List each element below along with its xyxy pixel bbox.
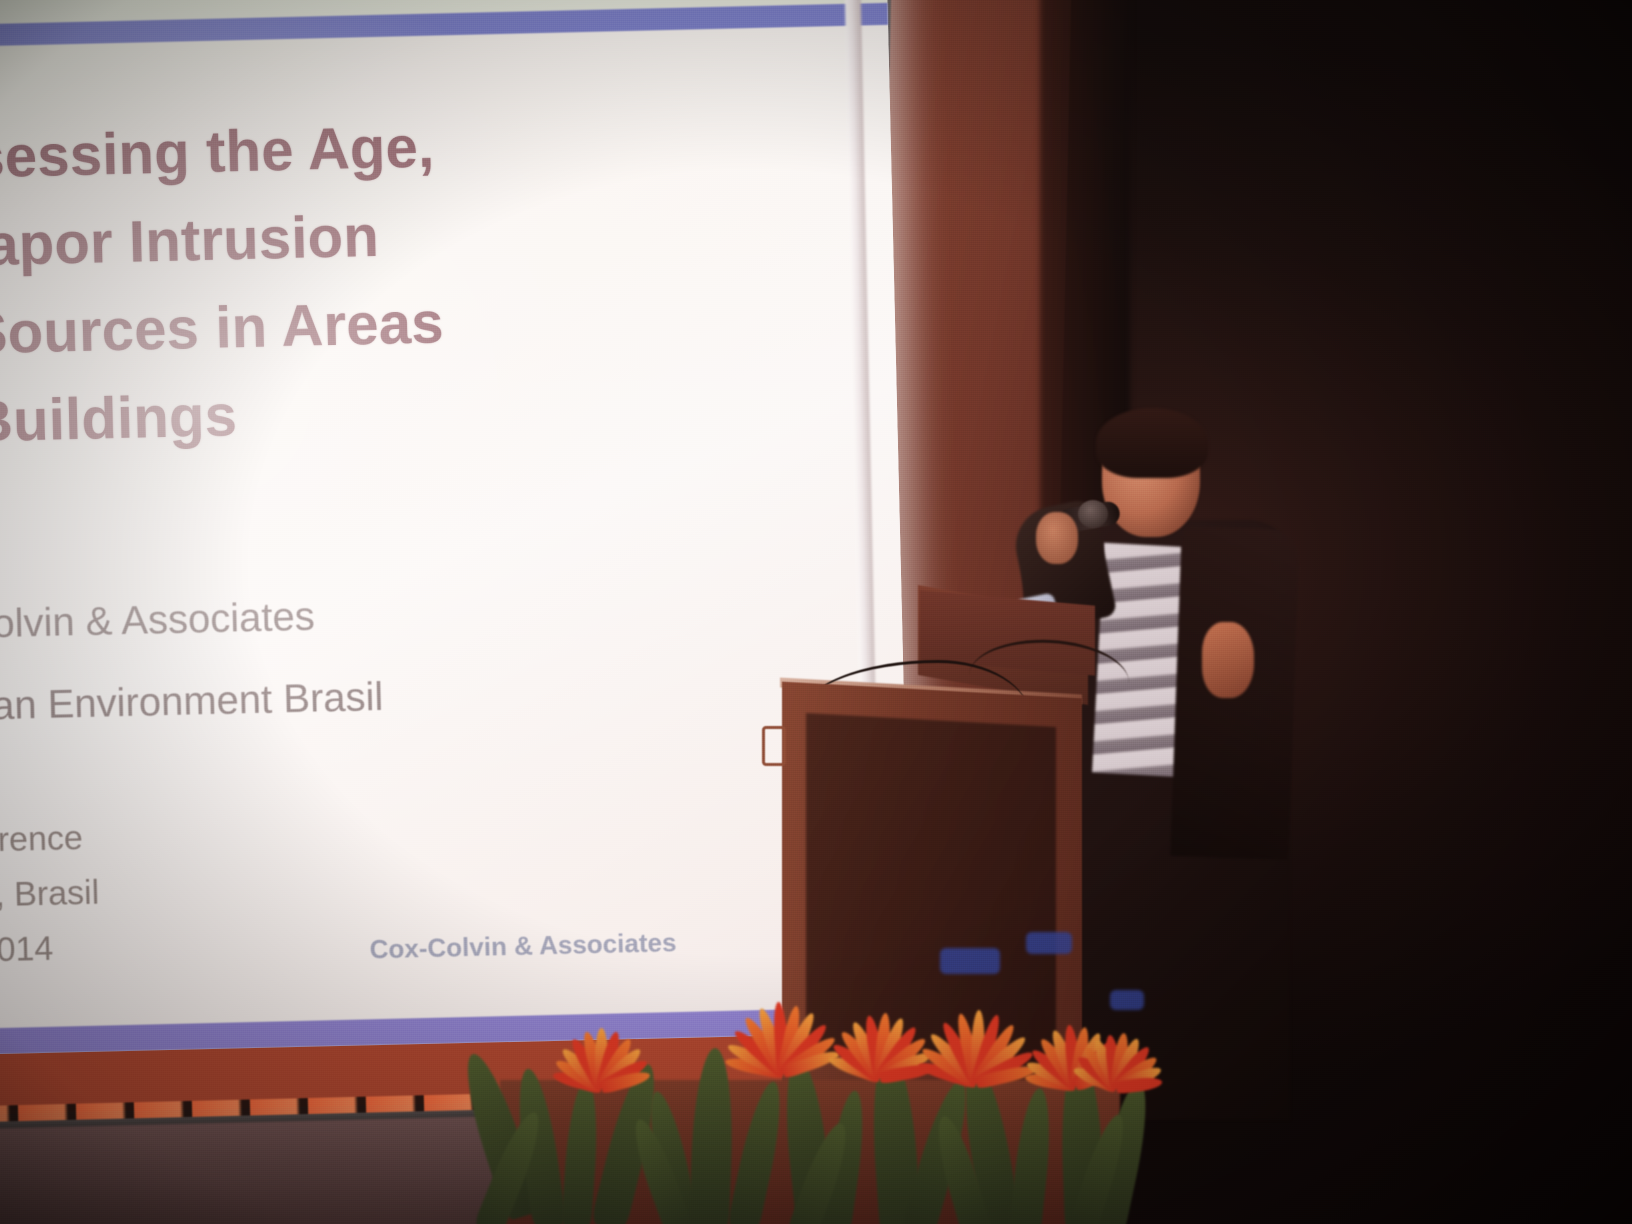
bromeliad-bloom [924, 964, 1033, 1085]
speaker-right-hand [1202, 622, 1254, 698]
bromeliad-bloom [558, 992, 644, 1088]
flower-leaf [1008, 1087, 1056, 1224]
bromeliad-bloom [724, 957, 833, 1077]
speaker-hair [1096, 408, 1208, 478]
presentation-photo-scene: r Assessing the Age, nd Vapor Intrusion … [0, 0, 1632, 1224]
slide-author-block: ox-Colvin & Associates , Clean Environme… [0, 566, 731, 749]
slide-title: r Assessing the Age, nd Vapor Intrusion … [0, 97, 728, 470]
podium-cable-clip [762, 726, 786, 766]
microphone-head [1078, 500, 1108, 528]
planter-blue-accent [1110, 990, 1144, 1010]
flower-leaf [689, 1047, 735, 1224]
flower-foliage [470, 930, 1150, 1224]
speaker-hand-holding-mic [1036, 512, 1078, 564]
flower-leaf [727, 1078, 790, 1224]
planter-blue-accent [940, 948, 1000, 974]
planter-blue-accent [1026, 932, 1072, 954]
